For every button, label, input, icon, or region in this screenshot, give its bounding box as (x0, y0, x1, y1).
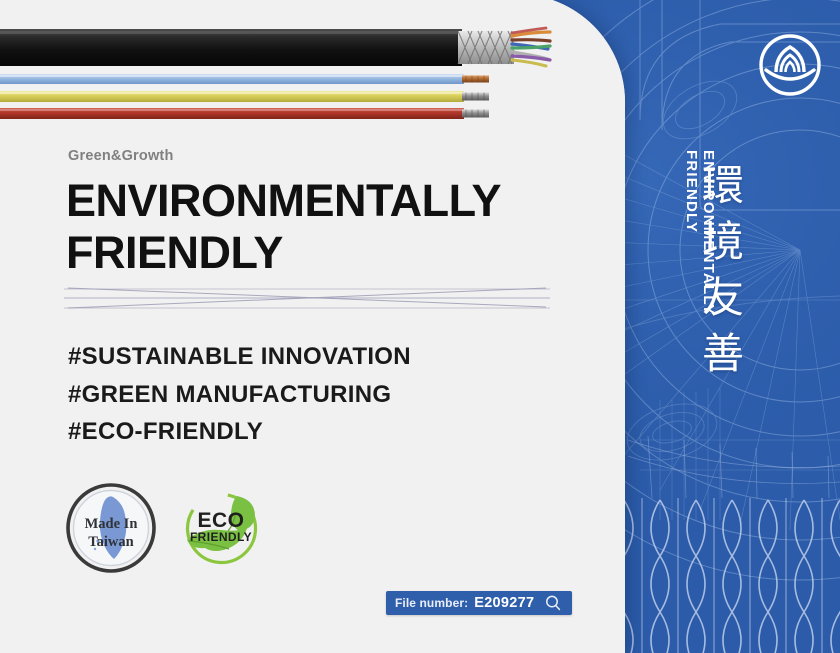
divider-crossing-lines (62, 276, 552, 318)
hashtag-item-3: #ECO-FRIENDLY (68, 413, 411, 451)
english-vertical-line2: FRIENDLY (683, 150, 700, 350)
eyebrow-label: Green&Growth (68, 148, 174, 164)
cable-photo-group (0, 0, 625, 135)
content-card: Green&Growth ENVIRONMENTALLY FRIENDLY #S… (0, 0, 625, 653)
eco-friendly-badge: ECO FRIENDLY (179, 486, 264, 571)
made-in-taiwan-line1: Made In (85, 516, 138, 532)
certification-badges: Made In Taiwan ECO FRIENDLY (66, 483, 286, 573)
made-in-taiwan-line2: Taiwan (88, 534, 133, 550)
english-vertical-title: ENVIRONMENTALLY FRIENDLY (677, 150, 717, 350)
yellow-hookup-wire (0, 91, 489, 102)
file-number-bar[interactable]: File number: E209277 (386, 591, 572, 615)
brand-logo-icon (757, 32, 823, 98)
file-number-label: File number: (395, 596, 468, 610)
poster-canvas: 環 境 友 善 ENVIRONMENTALLY FRIENDLY (0, 0, 840, 653)
made-in-taiwan-badge: Made In Taiwan (66, 483, 156, 573)
headline-line-1: ENVIRONMENTALLY (66, 175, 586, 227)
page-title: ENVIRONMENTALLY FRIENDLY (66, 175, 586, 279)
red-hookup-wire (0, 108, 489, 119)
file-number-value: E209277 (474, 595, 534, 611)
hashtag-list: #SUSTAINABLE INNOVATION #GREEN MANUFACTU… (68, 338, 411, 451)
hashtag-item-1: #SUSTAINABLE INNOVATION (68, 338, 411, 376)
hashtag-item-2: #GREEN MANUFACTURING (68, 376, 411, 414)
headline-line-2: FRIENDLY (66, 227, 586, 279)
eco-badge-line2: FRIENDLY (190, 530, 252, 544)
magnifier-icon[interactable] (544, 594, 562, 612)
blue-hookup-wire (0, 74, 489, 84)
english-vertical-line1: ENVIRONMENTALLY (700, 150, 717, 350)
card-inner: Green&Growth ENVIRONMENTALLY FRIENDLY #S… (0, 0, 625, 653)
eco-badge-line1: ECO (197, 509, 244, 532)
shielded-multicore-cable (0, 28, 550, 66)
